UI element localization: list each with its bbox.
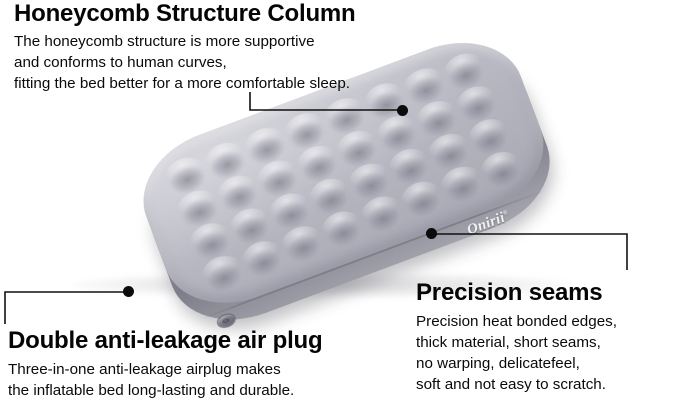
callout-body-line: thick material, short seams, bbox=[416, 332, 617, 353]
callout-body-honeycomb: The honeycomb structure is more supporti… bbox=[14, 31, 350, 94]
callout-body-line: Precision heat bonded edges, bbox=[416, 311, 617, 332]
callout-heading-air-plug: Double anti-leakage air plug bbox=[8, 329, 322, 353]
product-infographic: Onirii® Honeycomb Structure Column The h… bbox=[0, 0, 679, 412]
callout-body-line: soft and not easy to scratch. bbox=[416, 374, 617, 395]
callout-body-line: Three-in-one anti-leakage airplug makes bbox=[8, 359, 294, 380]
callout-dot-honeycomb bbox=[397, 105, 408, 116]
callout-heading-honeycomb: Honeycomb Structure Column bbox=[14, 2, 356, 26]
callout-body-line: fitting the bed better for a more comfor… bbox=[14, 73, 350, 94]
callout-body-air-plug: Three-in-one anti-leakage airplug makes … bbox=[8, 359, 294, 401]
callout-body-line: the inflatable bed long-lasting and dura… bbox=[8, 380, 294, 401]
callout-body-line: no warping, delicatefeel, bbox=[416, 353, 617, 374]
callout-body-precision-seams: Precision heat bonded edges, thick mater… bbox=[416, 311, 617, 395]
callout-dot-precision-seams bbox=[426, 228, 437, 239]
callout-dot-air-plug bbox=[123, 286, 134, 297]
callout-body-line: The honeycomb structure is more supporti… bbox=[14, 31, 350, 52]
callout-heading-precision-seams: Precision seams bbox=[416, 281, 602, 305]
callout-body-line: and conforms to human curves, bbox=[14, 52, 350, 73]
